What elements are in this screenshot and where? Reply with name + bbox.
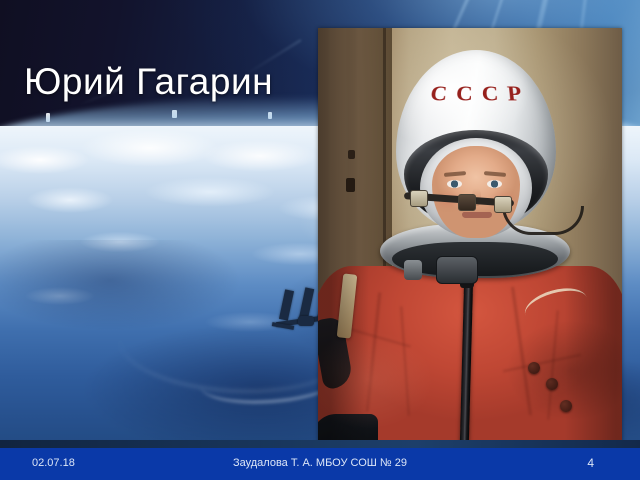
microphone-icon: [458, 194, 476, 211]
presentation-slide: Юрий Гагарин: [0, 0, 640, 480]
suit-button-icon: [528, 362, 540, 374]
slide-footer: 02.07.18 Заудалова Т. А. МБОУ СОШ № 29 4: [0, 448, 640, 480]
microphone-icon: [494, 196, 512, 213]
eye-icon: [447, 180, 462, 188]
photo-door-fitting-icon: [348, 150, 355, 159]
footer-author: Заудалова Т. А. МБОУ СОШ № 29: [0, 457, 640, 469]
suit-strap: [337, 273, 358, 338]
suit-hose: [318, 316, 354, 390]
neck-ring-latch-icon: [436, 256, 478, 284]
gagarin-photo: СССР: [318, 28, 622, 448]
photo-door-handle-icon: [346, 178, 355, 192]
suit-button-icon: [546, 378, 558, 390]
spacesuit-body: [318, 266, 622, 448]
helmet-cccp-text: СССР: [393, 83, 559, 106]
eye-icon: [487, 180, 502, 188]
microphone-icon: [410, 190, 428, 207]
suit-cord: [521, 282, 592, 331]
footer-top-edge: [0, 440, 640, 448]
suit-button-icon: [560, 400, 572, 412]
suit-zipper: [460, 266, 474, 448]
mouth-icon: [462, 212, 492, 218]
gagarin-face: [432, 146, 520, 238]
neck-ring-clip-icon: [404, 260, 422, 280]
footer-page-number: 4: [587, 456, 594, 470]
